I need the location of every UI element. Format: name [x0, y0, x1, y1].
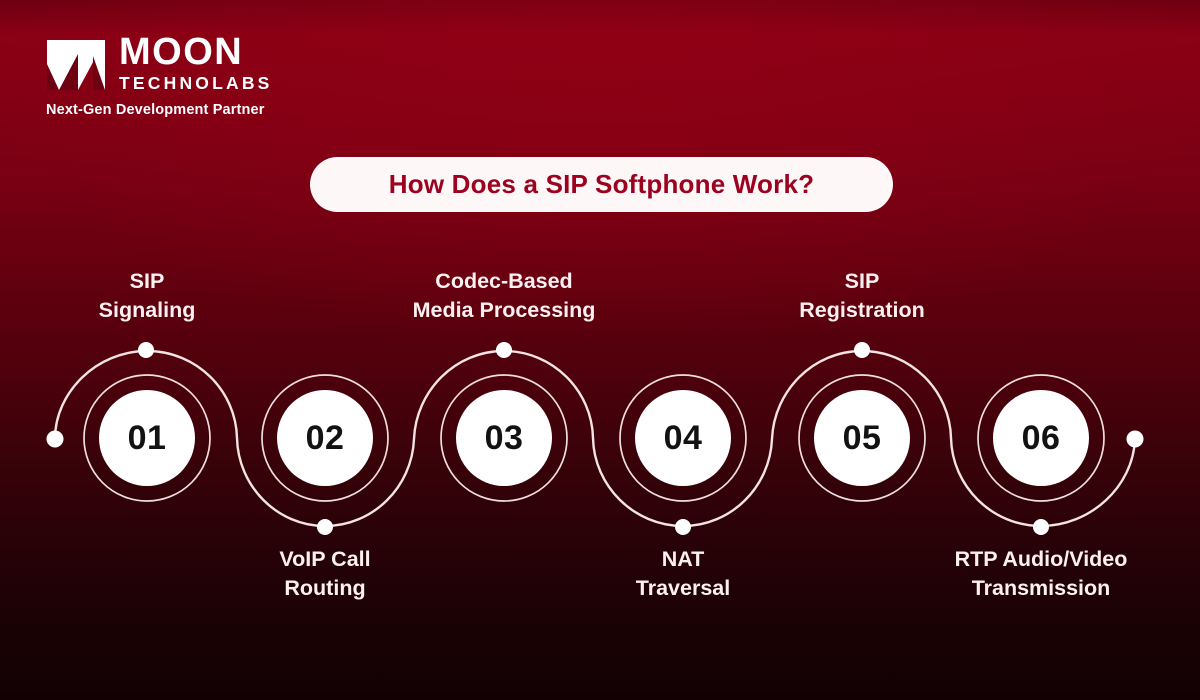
infographic-canvas: MOON TECHNOLABS Next-Gen Development Par…	[0, 0, 1200, 700]
step-label-5: SIP Registration	[722, 267, 1002, 324]
step-connector-dot-5	[854, 342, 870, 358]
step-connector-dot-4	[675, 519, 691, 535]
step-connector-dot-3	[496, 342, 512, 358]
step-node-1[interactable]	[84, 375, 210, 501]
step-label-6: RTP Audio/Video Transmission	[901, 545, 1181, 602]
step-label-3: Codec-Based Media Processing	[364, 267, 644, 324]
path-start-dot	[47, 431, 64, 448]
step-node-2[interactable]	[262, 375, 388, 501]
step-node-4[interactable]	[620, 375, 746, 501]
step-node-5[interactable]	[799, 375, 925, 501]
step-node-3[interactable]	[441, 375, 567, 501]
connector-ribbon-path	[55, 351, 1135, 526]
step-node-6[interactable]	[978, 375, 1104, 501]
step-label-4: NAT Traversal	[543, 545, 823, 602]
step-connector-dot-1	[138, 342, 154, 358]
step-connector-dot-6	[1033, 519, 1049, 535]
step-label-1: SIP Signaling	[7, 267, 287, 324]
step-connector-dot-2	[317, 519, 333, 535]
step-label-2: VoIP Call Routing	[185, 545, 465, 602]
path-end-dot	[1127, 431, 1144, 448]
